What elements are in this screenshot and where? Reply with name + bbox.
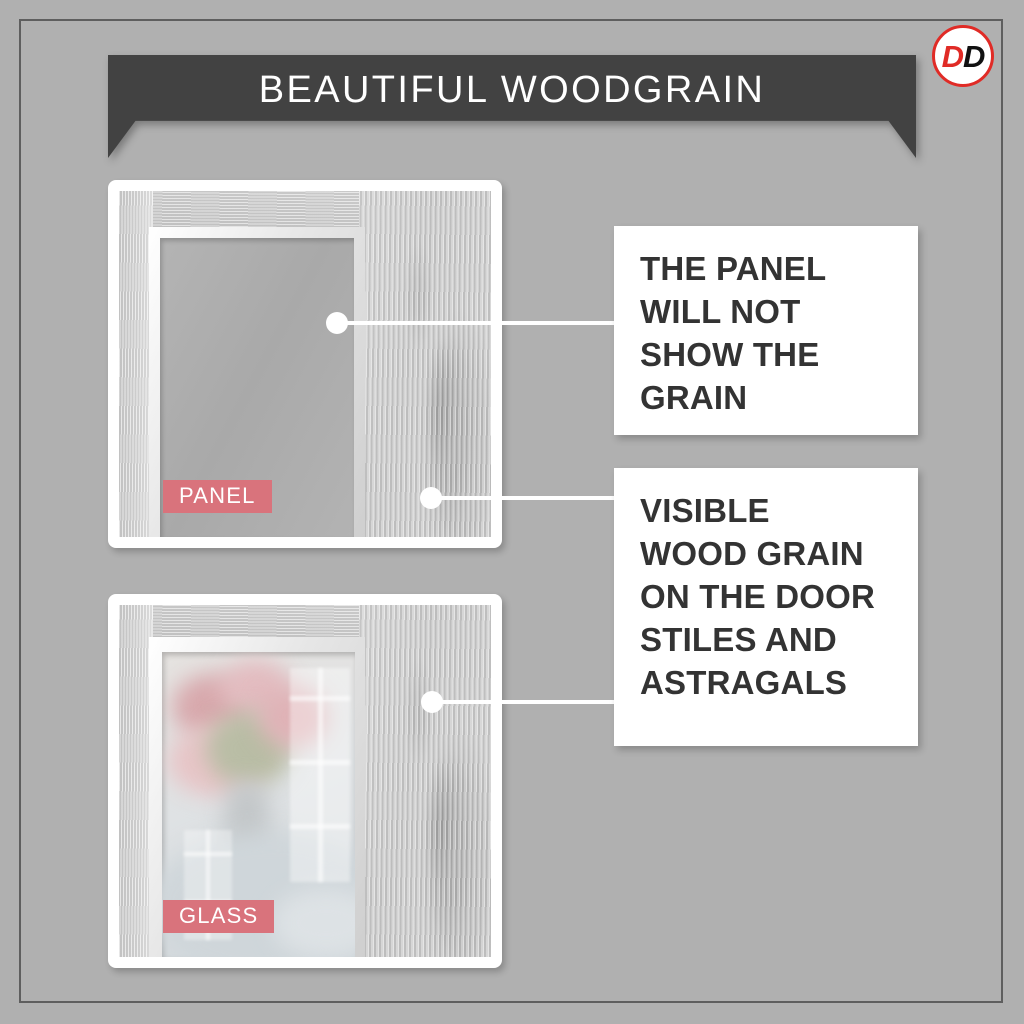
callout-connector-line-panel (337, 321, 616, 325)
callout-connector-line-grain-top (431, 496, 616, 500)
callout-line: THE PANEL (640, 248, 892, 291)
glass-photo-frame: GLASS (108, 594, 502, 968)
infographic-canvas: BEAUTIFUL WOODGRAIN DD PANEL (0, 0, 1024, 1024)
brand-logo-icon[interactable]: DD (932, 25, 994, 87)
callout-line: GRAIN (640, 377, 892, 420)
logo-letter-1: D (942, 41, 963, 72)
page-title: BEAUTIFUL WOODGRAIN (108, 69, 916, 112)
panel-label-chip: PANEL (163, 480, 272, 513)
window-mullion-horizontal (290, 696, 350, 701)
glass-label-chip: GLASS (163, 900, 274, 933)
logo-letter-2: D (963, 41, 984, 72)
window-mullion-horizontal-2 (184, 852, 232, 856)
window-mullion-horizontal (290, 824, 350, 829)
callout-line: SHOW THE (640, 334, 892, 377)
woodgrain-rail-texture (119, 191, 359, 231)
woodgrain-stile-texture (359, 191, 491, 537)
woodgrain-left-stile-texture (119, 191, 153, 537)
callout-panel-box: THE PANEL WILL NOT SHOW THE GRAIN (614, 226, 918, 435)
panel-photo-frame: PANEL (108, 180, 502, 548)
callout-line: ASTRAGALS (640, 662, 892, 705)
callout-line: WOOD GRAIN (640, 533, 892, 576)
callout-line: WILL NOT (640, 291, 892, 334)
woodgrain-left-stile-texture-2 (119, 605, 153, 957)
callout-line: ON THE DOOR (640, 576, 892, 619)
callout-line: VISIBLE (640, 490, 892, 533)
callout-line: STILES AND (640, 619, 892, 662)
woodgrain-stile-texture-2 (359, 605, 491, 957)
header-banner: BEAUTIFUL WOODGRAIN (108, 55, 916, 158)
panel-photo: PANEL (119, 191, 491, 537)
window-mullion-horizontal (290, 760, 350, 765)
woodgrain-rail-texture-2 (119, 605, 359, 641)
callout-grain-box: VISIBLE WOOD GRAIN ON THE DOOR STILES AN… (614, 468, 918, 746)
callout-connector-line-grain-bottom (432, 700, 616, 704)
glass-photo: GLASS (119, 605, 491, 957)
